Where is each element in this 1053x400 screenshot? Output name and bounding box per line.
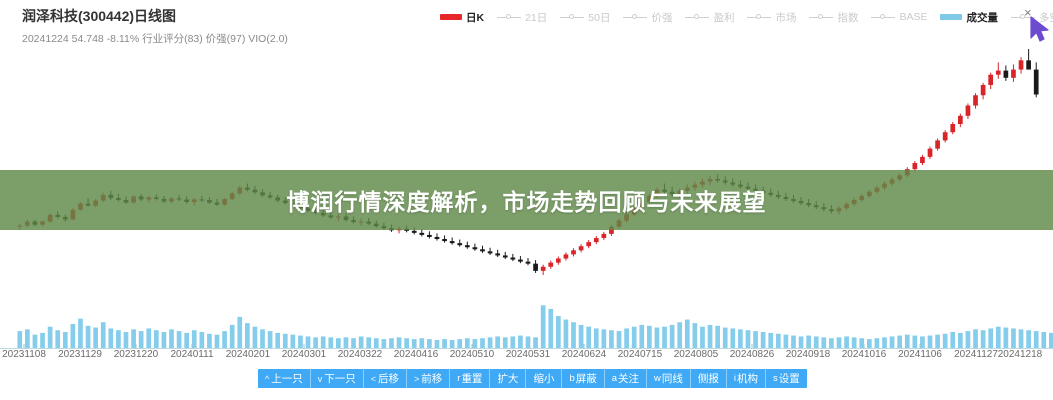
x-axis-tick: 20240510 — [450, 349, 495, 360]
toolbar-button-label: 重置 — [461, 371, 482, 386]
legend-item-label: 盈利 — [713, 10, 734, 25]
legend-swatch-icon — [440, 14, 462, 20]
x-axis-tick: 20231220 — [114, 349, 159, 360]
overlay-banner: 博润行情深度解析，市场走势回顾与未来展望 — [0, 170, 1053, 230]
toolbar-button-label: 机构 — [737, 371, 758, 386]
banner-title: 博润行情深度解析，市场走势回顾与未来展望 — [287, 183, 767, 217]
legend-item-label: BASE — [899, 11, 927, 23]
x-axis-tick: 20240624 — [562, 349, 607, 360]
toolbar-shortcut-key: w — [654, 373, 661, 384]
toolbar-button-label: 关注 — [618, 371, 639, 386]
legend-item-盈利[interactable]: 盈利 — [685, 10, 734, 25]
toolbar-button-下一只[interactable]: v下一只 — [311, 369, 364, 388]
toolbar-button-关注[interactable]: a关注 — [605, 369, 647, 388]
toolbar-button-label: 侧报 — [698, 371, 719, 386]
legend-line-marker-icon — [497, 13, 521, 22]
legend-item-指数[interactable]: 指数 — [809, 10, 858, 25]
toolbar-button-扩大[interactable]: 扩大 — [490, 369, 526, 388]
x-axis-tick: 20241106 — [898, 349, 942, 360]
toolbar-shortcut-key: r — [457, 373, 460, 384]
toolbar-button-前移[interactable]: >前移 — [407, 369, 450, 388]
legend-item-市场[interactable]: 市场 — [747, 10, 796, 25]
legend-item-50日[interactable]: 50日 — [560, 10, 610, 25]
x-axis-tick: 20240301 — [282, 349, 327, 360]
legend-item-label: 市场 — [775, 10, 796, 25]
toolbar-shortcut-key: s — [773, 373, 778, 384]
x-axis-tick: 20241016 — [842, 349, 887, 360]
toolbar-button-屏蔽[interactable]: b屏蔽 — [562, 369, 604, 388]
toolbar-caret-icon: > — [414, 374, 419, 384]
series-legend: 日K21日50日价强盈利市场指数BASE成交量多空公告内线 — [440, 9, 1053, 25]
legend-item-label: 成交量 — [966, 10, 998, 25]
legend-item-label: 日K — [466, 10, 484, 25]
legend-item-label: 21日 — [525, 10, 547, 25]
legend-line-marker-icon — [560, 13, 584, 22]
toolbar-button-label: 设置 — [779, 371, 800, 386]
toolbar-shortcut-key: b — [569, 373, 574, 384]
toolbar-button-label: 前移 — [421, 371, 442, 386]
x-axis-tick: 20231129 — [58, 349, 102, 360]
toolbar-button-label: 同线 — [662, 371, 683, 386]
toolbar-caret-icon: v — [318, 374, 323, 384]
legend-swatch-icon — [940, 14, 962, 20]
x-axis-tick: 20240805 — [674, 349, 719, 360]
bottom-toolbar[interactable]: ^上一只v下一只<后移>前移r重置扩大缩小b屏蔽a关注w同线侧报i机构s设置 — [258, 369, 807, 388]
x-axis-tick: 20240531 — [506, 349, 551, 360]
toolbar-caret-icon: ^ — [265, 374, 269, 384]
legend-item-label: 价强 — [651, 10, 672, 25]
x-axis-tick: 20240715 — [618, 349, 663, 360]
legend-line-marker-icon — [685, 13, 709, 22]
toolbar-button-label: 扩大 — [497, 371, 518, 386]
legend-item-价强[interactable]: 价强 — [623, 10, 672, 25]
candlestick-series — [17, 49, 1038, 275]
toolbar-caret-icon: < — [371, 374, 376, 384]
legend-line-marker-icon — [871, 13, 895, 22]
toolbar-button-机构[interactable]: i机构 — [727, 369, 766, 388]
toolbar-shortcut-key: a — [612, 373, 617, 384]
x-axis-tick: 20240826 — [730, 349, 775, 360]
toolbar-button-侧报[interactable]: 侧报 — [691, 369, 727, 388]
x-axis-tick: 20240322 — [338, 349, 383, 360]
legend-item-BASE[interactable]: BASE — [871, 11, 927, 23]
toolbar-button-设置[interactable]: s设置 — [766, 369, 807, 388]
legend-line-marker-icon — [809, 13, 833, 22]
toolbar-button-label: 上一只 — [271, 371, 303, 386]
legend-line-marker-icon — [747, 13, 771, 22]
legend-item-label: 50日 — [588, 10, 610, 25]
toolbar-button-label: 下一只 — [324, 371, 356, 386]
x-axis-tick: 20240416 — [394, 349, 439, 360]
toolbar-shortcut-key: i — [734, 373, 736, 384]
x-axis-tick: 20241218 — [998, 349, 1043, 360]
legend-item-成交量[interactable]: 成交量 — [940, 10, 998, 25]
x-axis-labels: 2023110820231129202312202024011120240201… — [0, 349, 1053, 365]
volume-series — [17, 292, 1053, 348]
toolbar-button-label: 后移 — [378, 371, 399, 386]
x-axis-tick: 20240918 — [786, 349, 831, 360]
legend-item-日K[interactable]: 日K — [440, 10, 484, 25]
toolbar-button-后移[interactable]: <后移 — [364, 369, 407, 388]
x-axis-tick: 20241127 — [954, 349, 998, 360]
x-axis-tick: 20240201 — [226, 349, 271, 360]
toolbar-button-label: 屏蔽 — [576, 371, 597, 386]
legend-item-21日[interactable]: 21日 — [497, 10, 547, 25]
stock-chart-app: 润泽科技(300442)日线图 20241224 54.748 -8.11% 行… — [0, 0, 1053, 400]
legend-item-label: 指数 — [837, 10, 858, 25]
toolbar-button-上一只[interactable]: ^上一只 — [258, 369, 311, 388]
toolbar-button-label: 缩小 — [533, 371, 554, 386]
x-axis-tick: 20240111 — [170, 349, 213, 360]
x-axis-tick: 20231108 — [2, 349, 46, 360]
toolbar-button-重置[interactable]: r重置 — [450, 369, 490, 388]
page-title: 润泽科技(300442)日线图 — [22, 6, 288, 26]
toolbar-button-缩小[interactable]: 缩小 — [526, 369, 562, 388]
legend-line-marker-icon — [623, 13, 647, 22]
toolbar-button-同线[interactable]: w同线 — [647, 369, 691, 388]
